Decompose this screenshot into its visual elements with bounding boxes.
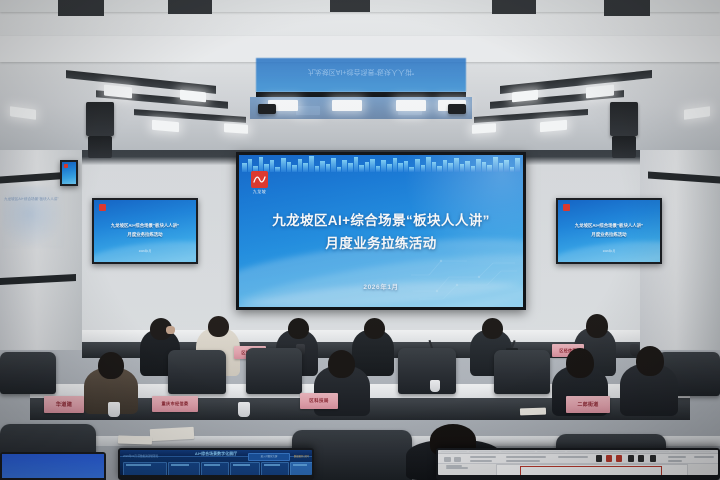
office-ribbon[interactable] [438,454,718,464]
attendee-head [364,318,385,339]
attendee-head [98,352,124,379]
attendee-head [636,346,664,376]
ceiling-speaker [88,136,112,158]
conference-room-screenshot: 九龙坡区AI+综合场景“板块人人讲” 九龙坡区AI+综合场景“板块人人讲” 九龙… [0,0,720,480]
dashboard-header-right: 数据更新 实时 [294,454,309,458]
chair [398,348,456,394]
name-placard: 重庆市经信委 [152,396,198,412]
ceiling-light [472,123,496,134]
attendee-head [482,318,503,339]
wall-monitor-small-left[interactable] [60,160,78,186]
side-display-right[interactable]: 九龙坡区AI+综合场景“板块人人讲” 月度业务拉练活动 2026年1月 [556,198,662,264]
placard-text: 华道建 [56,401,72,408]
dashboard-card[interactable] [230,462,260,475]
ceiling-speaker-small [448,104,466,114]
main-screen-surface: 九龙坡 九龙坡区AI+综合场景“板块人人讲” 月度业务拉练活动 2026年1月 [239,155,523,307]
ceiling-speaker [86,102,114,136]
ceiling-light [224,123,248,134]
office-screen[interactable] [438,450,718,475]
laptop-left[interactable] [0,452,106,480]
main-led-display[interactable]: 九龙坡 九龙坡区AI+综合场景“板块人人讲” 月度业务拉练活动 2026年1月 [236,152,526,310]
side-right-title-line1: 九龙坡区AI+综合场景“板块人人讲” [558,221,660,230]
ceiling-slot [58,0,104,16]
dashboard-card[interactable] [201,462,229,475]
side-brand-right-icon [563,204,570,211]
dashboard-card-active[interactable] [290,462,312,475]
placard-text: 区科技局 [309,398,329,404]
dashboard-cta-label: 进入可视化大屏 [250,454,288,458]
organization-logo: 九龙坡 [251,171,268,195]
attendee-head [208,316,229,337]
laptop-left-screen[interactable] [2,454,104,478]
attendee-head [288,318,309,339]
ceiling-slot [330,0,370,12]
name-placard: 二郎街道 [566,396,610,413]
side-right-date: 2026年1月 [558,249,660,253]
monitor-dashboard[interactable]: 2026年01月 区数据资源管理局 AI+综合场景数字化展厅 进入可视化大屏 数… [118,448,314,480]
dashboard-card[interactable] [168,462,200,475]
cup [108,402,120,417]
wall-projection-text: 九龙坡区AI+综合场景“板块人人讲” [4,196,62,220]
brand-name-label: 九龙坡 [253,189,267,195]
attendee-head [328,350,355,378]
side-brand-left-icon [99,204,106,211]
paper-document [150,427,195,441]
dashboard-card[interactable] [123,462,167,475]
cup [430,380,440,392]
side-right-title-line2: 月度业务拉练活动 [558,230,660,239]
small-brand-icon [64,164,68,168]
placard-text: 二郎街道 [577,401,598,408]
presentation-date: 2026年1月 [239,281,523,291]
monitor-office-document[interactable] [436,448,720,480]
attendee-head [586,314,608,338]
attendee-head [566,348,594,378]
ceiling-speaker [612,136,636,158]
ceiling-speaker-small [258,104,276,114]
ceiling-slot [168,0,212,14]
cup [238,402,250,417]
office-highlight-box [520,466,662,476]
dashboard-card[interactable] [261,462,289,475]
chair [168,350,226,394]
placard-text: 重庆市经信委 [162,401,189,407]
side-left-date: 2026年1月 [94,249,196,253]
chair [494,350,550,394]
dashboard-screen[interactable]: 2026年01月 区数据资源管理局 AI+综合场景数字化展厅 进入可视化大屏 数… [120,450,312,475]
name-placard: 区科技局 [300,393,338,409]
ceiling-slot [492,0,536,14]
chair [246,348,302,394]
title-line-2: 月度业务拉练活动 [239,233,523,256]
brand-wave-icon [251,171,268,188]
presentation-title: 九龙坡区AI+综合场景“板块人人讲” 月度业务拉练活动 [239,210,523,256]
chair [0,352,56,394]
ceiling-speaker [610,102,638,136]
side-left-title-line1: 九龙坡区AI+综合场景“板块人人讲” [94,221,196,230]
ceiling-slot [604,0,650,16]
ceiling-light [332,100,362,111]
ceiling-light [396,100,426,111]
side-display-left[interactable]: 九龙坡区AI+综合场景“板块人人讲” 月度业务拉练活动 2026年1月 [92,198,198,264]
name-placard: 华道建 [44,396,84,413]
paper-document [118,435,152,444]
ceiling-reflection-text: 九龙坡区AI+综合场景“板块人人讲” [262,66,460,77]
side-left-title-line2: 月度业务拉练活动 [94,230,196,239]
paper-document [520,408,546,416]
attendee-face [166,326,175,334]
title-line-1: 九龙坡区AI+综合场景“板块人人讲” [239,210,523,233]
